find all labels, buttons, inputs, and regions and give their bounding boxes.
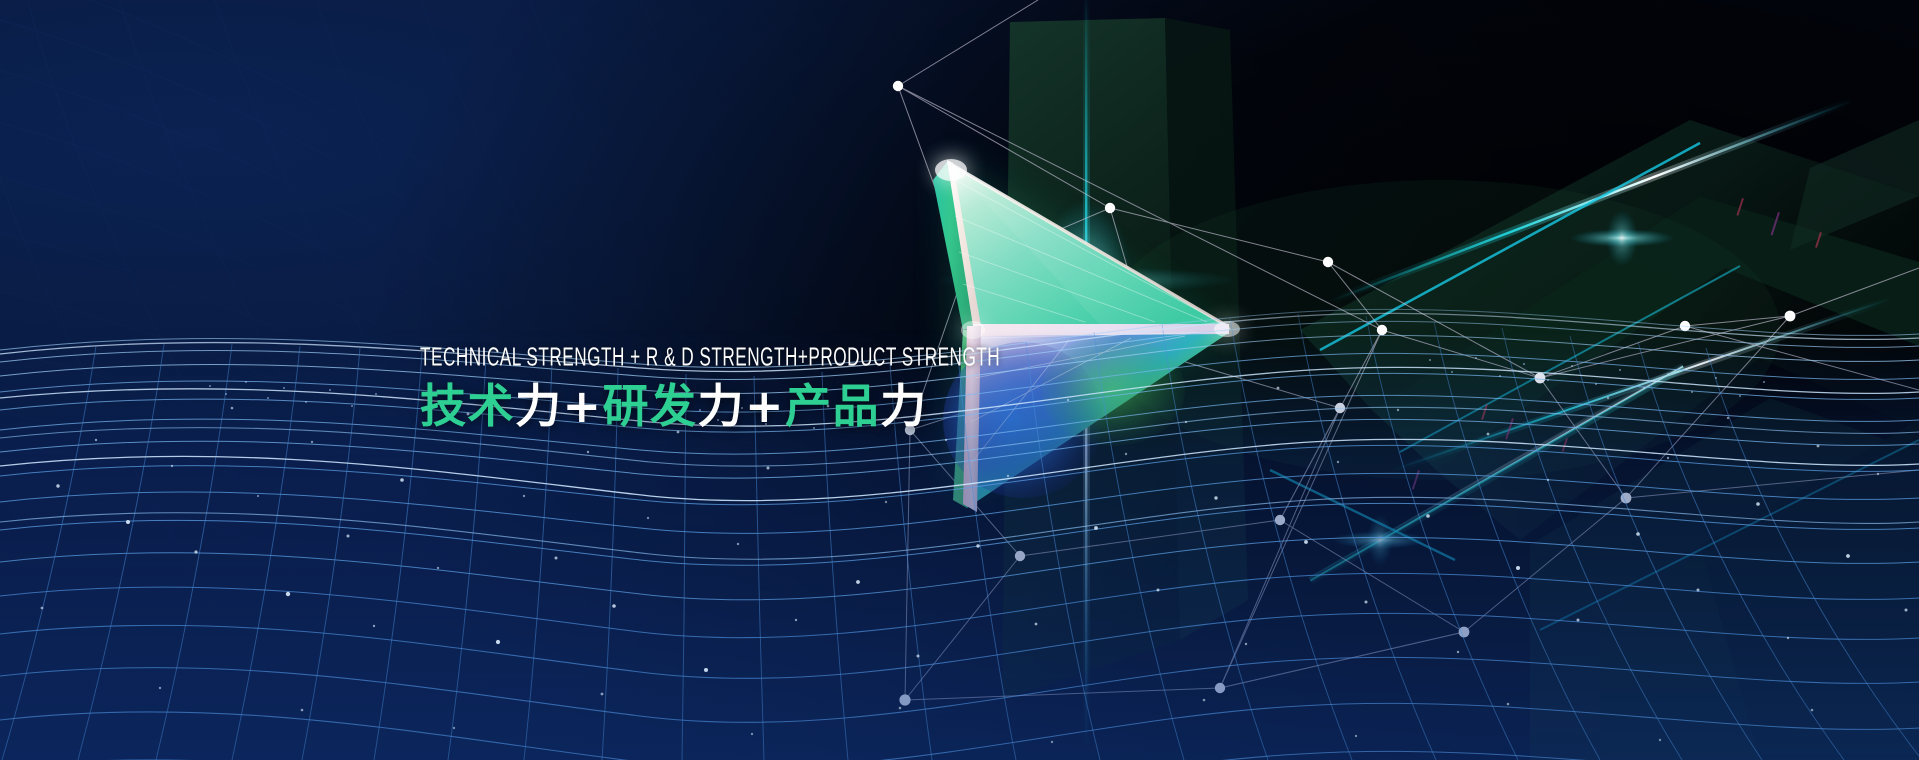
chinese-segment-4: 力: [698, 379, 746, 433]
hero-banner: TECHNICAL STRENGTH + R & D STRENGTH+PROD…: [0, 0, 1919, 760]
chinese-headline: 技术力+研发力+产品力: [420, 379, 1020, 433]
english-subtitle: TECHNICAL STRENGTH + R & D STRENGTH+PROD…: [420, 341, 900, 373]
chinese-segment-6: 力: [880, 379, 928, 433]
chinese-segment-3: 研发: [603, 379, 698, 433]
chinese-segment-1: 技术: [420, 379, 515, 433]
chinese-plus-1: +: [563, 379, 603, 433]
chinese-plus-2: +: [745, 379, 785, 433]
chinese-segment-5: 产品: [785, 379, 880, 433]
chinese-segment-2: 力: [515, 379, 563, 433]
headline-block: TECHNICAL STRENGTH + R & D STRENGTH+PROD…: [420, 344, 1020, 433]
